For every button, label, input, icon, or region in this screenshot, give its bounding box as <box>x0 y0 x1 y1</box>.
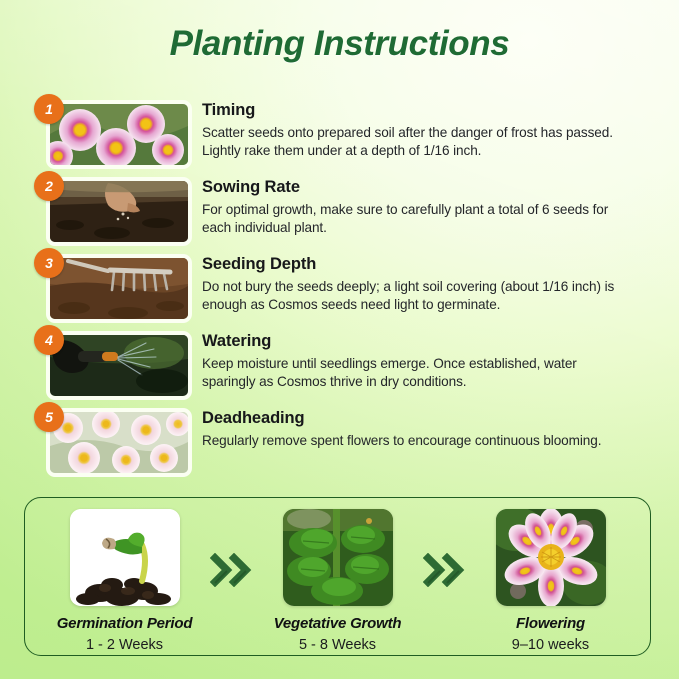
step-title: Seeding Depth <box>202 254 632 275</box>
page-title: Planting Instructions <box>0 24 679 64</box>
hand-sowing-seeds-photo <box>50 181 188 242</box>
step-number-badge: 3 <box>34 248 64 278</box>
step-thumbnail-wrap: 3 <box>50 258 188 319</box>
timeline-stage-duration: 1 - 2 Weeks <box>47 637 202 654</box>
double-chevron-right-icon <box>202 553 260 587</box>
step-number-badge: 1 <box>34 94 64 124</box>
step-description: For optimal growth, make sure to careful… <box>202 201 632 239</box>
list-item: 1 <box>0 100 679 177</box>
step-text: Sowing Rate For optimal growth, make sur… <box>202 177 632 238</box>
timeline-stage-name: Flowering <box>473 615 628 633</box>
list-item: 2 <box>0 177 679 254</box>
timeline-stage-flowering: Flowering 9–10 weeks <box>473 509 628 654</box>
step-number-badge: 4 <box>34 325 64 355</box>
rake-in-soil-photo <box>50 258 188 319</box>
timeline-stage-duration: 5 - 8 Weeks <box>260 637 415 654</box>
step-description: Do not bury the seeds deeply; a light so… <box>202 278 632 316</box>
list-item: 5 <box>0 408 679 485</box>
step-text: Deadheading Regularly remove spent flowe… <box>202 408 632 450</box>
step-text: Timing Scatter seeds onto prepared soil … <box>202 100 632 161</box>
steps-list: 1 <box>0 100 679 485</box>
timeline-stage-vegetative: Vegetative Growth 5 - 8 Weeks <box>260 509 415 654</box>
watering-hose-spray-photo <box>50 335 188 396</box>
list-item: 4 <box>0 331 679 408</box>
step-title: Watering <box>202 331 632 352</box>
planting-instructions-infographic: Planting Instructions 1 <box>0 0 679 679</box>
pink-cosmos-bloom-photo <box>496 509 606 606</box>
step-thumbnail-wrap: 5 <box>50 412 188 473</box>
step-title: Timing <box>202 100 632 121</box>
timeline-stage-germination: Germination Period 1 - 2 Weeks <box>47 509 202 654</box>
double-chevron-right-icon <box>415 553 473 587</box>
timeline-stage-duration: 9–10 weeks <box>473 637 628 654</box>
list-item: 3 <box>0 254 679 331</box>
step-description: Scatter seeds onto prepared soil after t… <box>202 124 632 162</box>
step-text: Seeding Depth Do not bury the seeds deep… <box>202 254 632 315</box>
step-thumbnail-wrap: 2 <box>50 181 188 242</box>
step-number-badge: 2 <box>34 171 64 201</box>
step-description: Keep moisture until seedlings emerge. On… <box>202 355 632 393</box>
step-title: Deadheading <box>202 408 632 429</box>
step-thumbnail-wrap: 1 <box>50 104 188 165</box>
step-thumbnail-wrap: 4 <box>50 335 188 396</box>
step-title: Sowing Rate <box>202 177 632 198</box>
sprouting-seed-photo <box>70 509 180 606</box>
pale-cosmos-blooms-photo <box>50 412 188 473</box>
step-text: Watering Keep moisture until seedlings e… <box>202 331 632 392</box>
growth-timeline-panel: Germination Period 1 - 2 Weeks <box>24 497 651 656</box>
cosmos-flowers-photo <box>50 104 188 165</box>
green-foliage-photo <box>283 509 393 606</box>
timeline-row: Germination Period 1 - 2 Weeks <box>25 498 650 655</box>
timeline-stage-name: Vegetative Growth <box>260 615 415 633</box>
step-number-badge: 5 <box>34 402 64 432</box>
step-description: Regularly remove spent flowers to encour… <box>202 432 632 451</box>
timeline-stage-name: Germination Period <box>47 615 202 633</box>
